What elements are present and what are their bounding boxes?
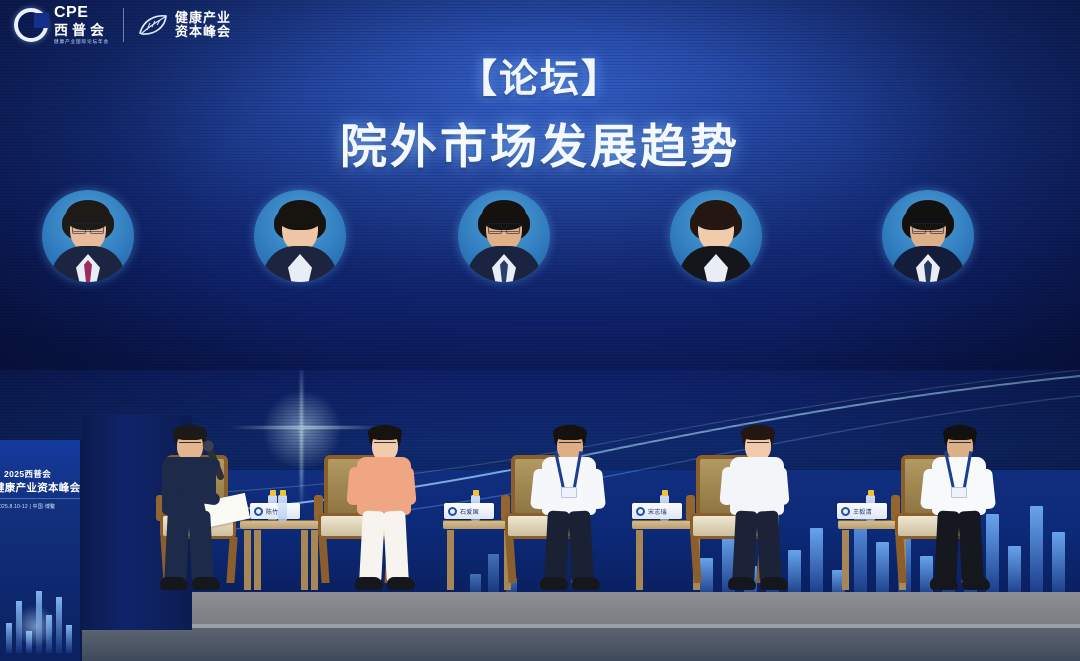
panelist-list (0, 190, 1080, 430)
shoe (728, 577, 756, 590)
panelist-photo-column (40, 190, 136, 291)
panelist-photo-column (880, 190, 976, 291)
summit-logo: 健康产业 资本峰会 (138, 11, 231, 39)
badge (561, 487, 577, 498)
title-line-1: 【论坛】 (0, 48, 1080, 104)
panelist-avatar (670, 190, 762, 282)
side-table (250, 520, 322, 529)
cpe-subtitle: 健康产业国际论坛年会 (54, 40, 109, 45)
cpe-acronym: CPE (54, 5, 109, 21)
banner-line-1: 2025西普会 (4, 468, 82, 480)
glasses-icon (179, 442, 201, 447)
shoe (962, 577, 990, 590)
panelist-photo-column (456, 190, 552, 291)
summit-line-2: 资本峰会 (175, 25, 231, 39)
shoe (160, 577, 188, 590)
seated-panelist (150, 425, 260, 630)
panelist-card (40, 190, 157, 291)
panelist-avatar (882, 190, 974, 282)
cpe-logo: CPE 西普会 健康产业国际论坛年会 (14, 5, 109, 45)
shoe (760, 577, 788, 590)
badge (951, 487, 967, 498)
rollup-banner: 2025西普会 健康产业资本峰会 2025.8.10-12 | 中国·博鳌 (0, 440, 82, 661)
water-bottle (278, 495, 287, 521)
seated-panelist (345, 425, 455, 630)
forum-title: 【论坛】 院外市场发展趋势 (0, 48, 1080, 177)
panelist-card (668, 190, 785, 291)
shoe (192, 577, 220, 590)
plate-logo-icon (448, 507, 457, 516)
banner-line-3: 2025.8.10-12 | 中国·博鳌 (0, 503, 82, 510)
glasses-icon (72, 223, 104, 232)
glasses-icon (559, 442, 581, 447)
glasses-icon (949, 442, 971, 447)
panelist-avatar (42, 190, 134, 282)
panelist-card (880, 190, 997, 291)
summit-line-1: 健康产业 (175, 11, 231, 25)
shoe (540, 577, 568, 590)
panelist-photo-column (668, 190, 764, 291)
panelist-avatar (254, 190, 346, 282)
cpe-chinese-name: 西普会 (54, 23, 109, 37)
conference-stage-photo: CPE 西普会 健康产业国际论坛年会 健康产业 资本峰会 【论坛】 院外市场发展… (0, 0, 1080, 661)
name-plate: 王毅清 (837, 503, 887, 519)
leaf-icon (138, 14, 168, 36)
cpe-ring-icon (14, 8, 48, 42)
plate-logo-icon (841, 507, 850, 516)
glasses-icon (374, 442, 396, 447)
panelist-card (252, 190, 369, 291)
stage-front-panel (0, 628, 1080, 661)
name-plate: 石爱国 (444, 503, 494, 519)
plate-name: 宋志瑞 (648, 507, 667, 516)
panelist-avatar (458, 190, 550, 282)
logo-divider (123, 8, 124, 42)
plate-name: 王毅清 (853, 507, 872, 516)
header-logos: CPE 西普会 健康产业国际论坛年会 健康产业 资本峰会 (14, 5, 231, 45)
shoe (387, 577, 415, 590)
glasses-icon (488, 223, 520, 232)
banner-divider (0, 498, 82, 499)
panelist-photo-column (252, 190, 348, 291)
glasses-icon (912, 223, 944, 232)
banner-line-2: 健康产业资本峰会 (0, 480, 82, 495)
shoe (355, 577, 383, 590)
seated-panelist (718, 425, 828, 630)
seated-panelist (920, 425, 1030, 630)
plate-name: 石爱国 (460, 507, 479, 516)
seated-panelist (530, 425, 640, 630)
title-line-2: 院外市场发展趋势 (0, 108, 1080, 177)
plate-logo-icon (636, 507, 645, 516)
shoe (930, 577, 958, 590)
panelist-card (456, 190, 573, 291)
shoe (572, 577, 600, 590)
glasses-icon (747, 442, 769, 447)
name-plate: 宋志瑞 (632, 503, 682, 519)
plate-name: 陈竹 (266, 507, 279, 516)
banner-glow (14, 605, 56, 647)
